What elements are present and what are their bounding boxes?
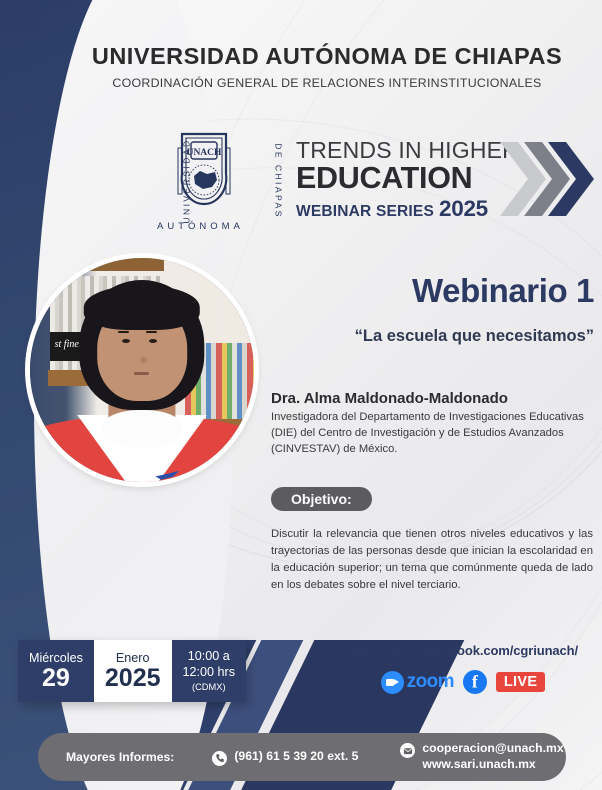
date-day: 29 — [29, 665, 83, 691]
footer-contact-bar: Mayores Informes: (961) 61 5 39 20 ext. … — [38, 733, 566, 781]
footer-contact-lines: cooperacion@unach.mx www.sari.unach.mx — [422, 741, 563, 773]
chevron-arrows-icon — [498, 136, 594, 222]
time-zone: (CDMX) — [183, 681, 236, 693]
poster-canvas: UNIVERSIDAD AUTÓNOMA DE CHIAPAS COORDINA… — [0, 0, 602, 790]
speaker-bio: Investigadora del Departamento de Invest… — [271, 410, 593, 458]
date-month-cell: Enero 2025 — [94, 640, 172, 702]
mail-icon — [400, 743, 415, 758]
date-weekday-cell: Miércoles 29 — [18, 640, 94, 702]
university-name: UNIVERSIDAD AUTÓNOMA DE CHIAPAS — [0, 44, 602, 69]
logo-word-autonoma: AUTÓNOMA — [157, 221, 244, 232]
zoom-logo[interactable]: zoom — [381, 671, 454, 694]
photo-book-label: st fine. — [55, 339, 82, 350]
facebook-url[interactable]: https://www.facebook.com/cgriunach/ — [330, 643, 596, 658]
live-badge: LIVE — [496, 672, 545, 692]
speaker-photo: st fine. — [30, 258, 254, 482]
footer-label: Mayores Informes: — [66, 750, 174, 764]
footer-phone-group: (961) 61 5 39 20 ext. 5 — [212, 749, 358, 766]
webinar-subtitle: “La escuela que necesitamos” — [262, 327, 594, 346]
banner-line-trends: TRENDS IN HIGHER — [296, 139, 519, 162]
date-weekday: Miércoles — [29, 651, 83, 665]
facebook-icon[interactable] — [463, 670, 487, 694]
platform-logos: zoom LIVE — [330, 670, 596, 694]
speaker-name: Dra. Alma Maldonado-Maldonado — [271, 390, 596, 407]
footer-phone[interactable]: (961) 61 5 39 20 ext. 5 — [234, 749, 358, 765]
date-month: Enero — [105, 651, 161, 665]
phone-icon — [212, 751, 227, 766]
objective-text: Discutir la relevancia que tienen otros … — [271, 526, 593, 594]
zoom-camera-icon — [381, 671, 404, 694]
banner-webinar-series: WEBINAR SERIES — [296, 203, 434, 220]
banner-year: 2025 — [439, 196, 488, 221]
date-time-bar: Miércoles 29 Enero 2025 10:00 a 12:00 hr… — [18, 640, 246, 702]
header: UNIVERSIDAD AUTÓNOMA DE CHIAPAS COORDINA… — [0, 44, 602, 90]
footer-email[interactable]: cooperacion@unach.mx — [422, 741, 563, 757]
time-start: 10:00 a — [183, 649, 236, 665]
banner-line-education: EDUCATION — [296, 163, 472, 194]
time-end: 12:00 hrs — [183, 665, 236, 681]
date-year: 2025 — [105, 665, 161, 691]
banner-line-series: WEBINAR SERIES2025 — [296, 198, 488, 221]
zoom-label: zoom — [407, 671, 454, 693]
webinar-title: Webinario 1 — [262, 272, 594, 310]
trends-banner: TRENDS IN HIGHER EDUCATION WEBINAR SERIE… — [296, 136, 602, 224]
svg-text:UNACH: UNACH — [187, 148, 222, 158]
logo-word-de-chiapas: DE CHIAPAS — [274, 143, 284, 218]
footer-email-group: cooperacion@unach.mx www.sari.unach.mx — [400, 741, 563, 773]
objective-badge: Objetivo: — [271, 487, 372, 511]
corner-notch — [0, 0, 40, 36]
unach-logo: UNIVERSIDAD DE CHIAPAS AUTÓNOMA UNACH — [124, 118, 284, 234]
date-time-cell: 10:00 a 12:00 hrs (CDMX) — [172, 640, 247, 702]
coordination-name: COORDINACIÓN GENERAL DE RELACIONES INTER… — [0, 76, 602, 90]
footer-website[interactable]: www.sari.unach.mx — [422, 757, 563, 773]
unach-shield-icon: UNACH — [174, 130, 234, 208]
